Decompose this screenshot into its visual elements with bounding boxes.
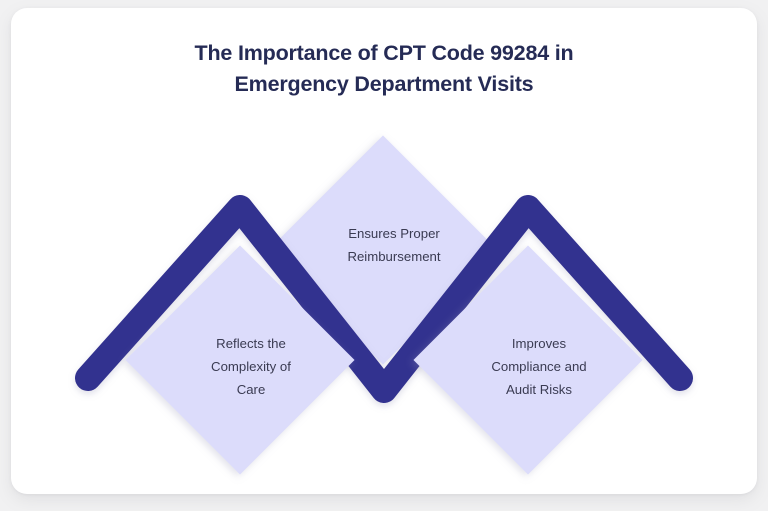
zigzag-diamond-diagram <box>11 8 757 494</box>
infographic-stage: The Importance of CPT Code 99284 in Emer… <box>0 0 768 511</box>
infographic-card: The Importance of CPT Code 99284 in Emer… <box>11 8 757 494</box>
